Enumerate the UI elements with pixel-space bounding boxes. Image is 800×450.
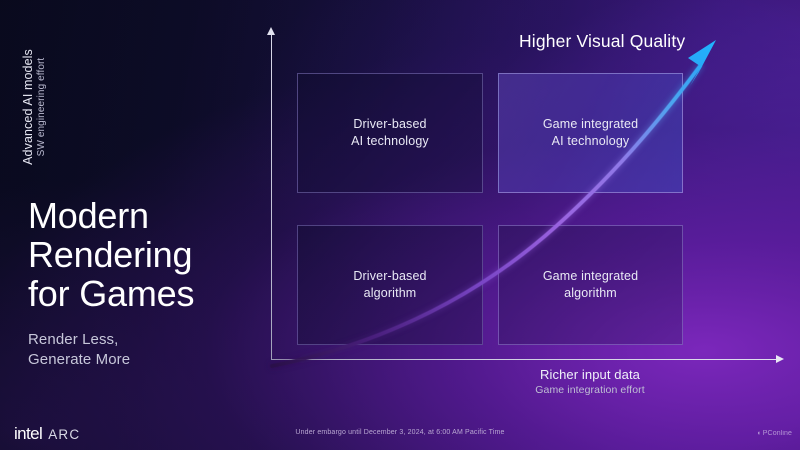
quadrant-label-line2: algorithm <box>364 285 417 302</box>
title-block: Modern Rendering for Games Render Less, … <box>28 196 258 370</box>
y-axis-label-secondary: SW engineering effort <box>36 7 47 207</box>
pconline-logo-icon: ◖ <box>757 430 761 437</box>
y-axis-label: Advanced AI models SW engineering effort <box>21 7 47 207</box>
quadrant-label-line1: Game integrated <box>543 116 638 133</box>
y-axis-line <box>271 33 272 360</box>
y-axis-label-primary: Advanced AI models <box>21 7 35 207</box>
embargo-notice: Under embargo until December 3, 2024, at… <box>0 429 800 436</box>
x-axis-label-secondary: Game integration effort <box>470 384 710 396</box>
quadrant-label-line1: Driver-based <box>353 116 426 133</box>
x-axis-line <box>271 359 779 360</box>
y-axis-arrow-icon <box>267 27 275 35</box>
pconline-watermark: ◖ PConline <box>757 430 792 437</box>
pconline-watermark-text: PConline <box>763 430 792 437</box>
headline-higher-visual-quality: Higher Visual Quality <box>519 31 685 52</box>
x-axis-label: Richer input data Game integration effor… <box>470 367 710 396</box>
quadrant-label-line2: algorithm <box>564 285 617 302</box>
page-subtitle: Render Less, Generate More <box>28 330 258 370</box>
quadrant-label-line2: AI technology <box>552 133 630 150</box>
x-axis-arrow-icon <box>776 355 784 363</box>
quadrant-game-integrated-algorithm[interactable]: Game integrated algorithm <box>498 225 683 345</box>
x-axis-label-primary: Richer input data <box>470 367 710 382</box>
quadrant-label-line1: Game integrated <box>543 268 638 285</box>
quadrant-driver-based-algorithm[interactable]: Driver-based algorithm <box>297 225 483 345</box>
page-title: Modern Rendering for Games <box>28 196 258 313</box>
slide-canvas: Modern Rendering for Games Render Less, … <box>0 0 800 450</box>
quadrant-label-line1: Driver-based <box>353 268 426 285</box>
quadrant-game-integrated-ai-technology[interactable]: Game integrated AI technology <box>498 73 683 193</box>
quadrant-driver-based-ai-technology[interactable]: Driver-based AI technology <box>297 73 483 193</box>
quadrant-label-line2: AI technology <box>351 133 429 150</box>
